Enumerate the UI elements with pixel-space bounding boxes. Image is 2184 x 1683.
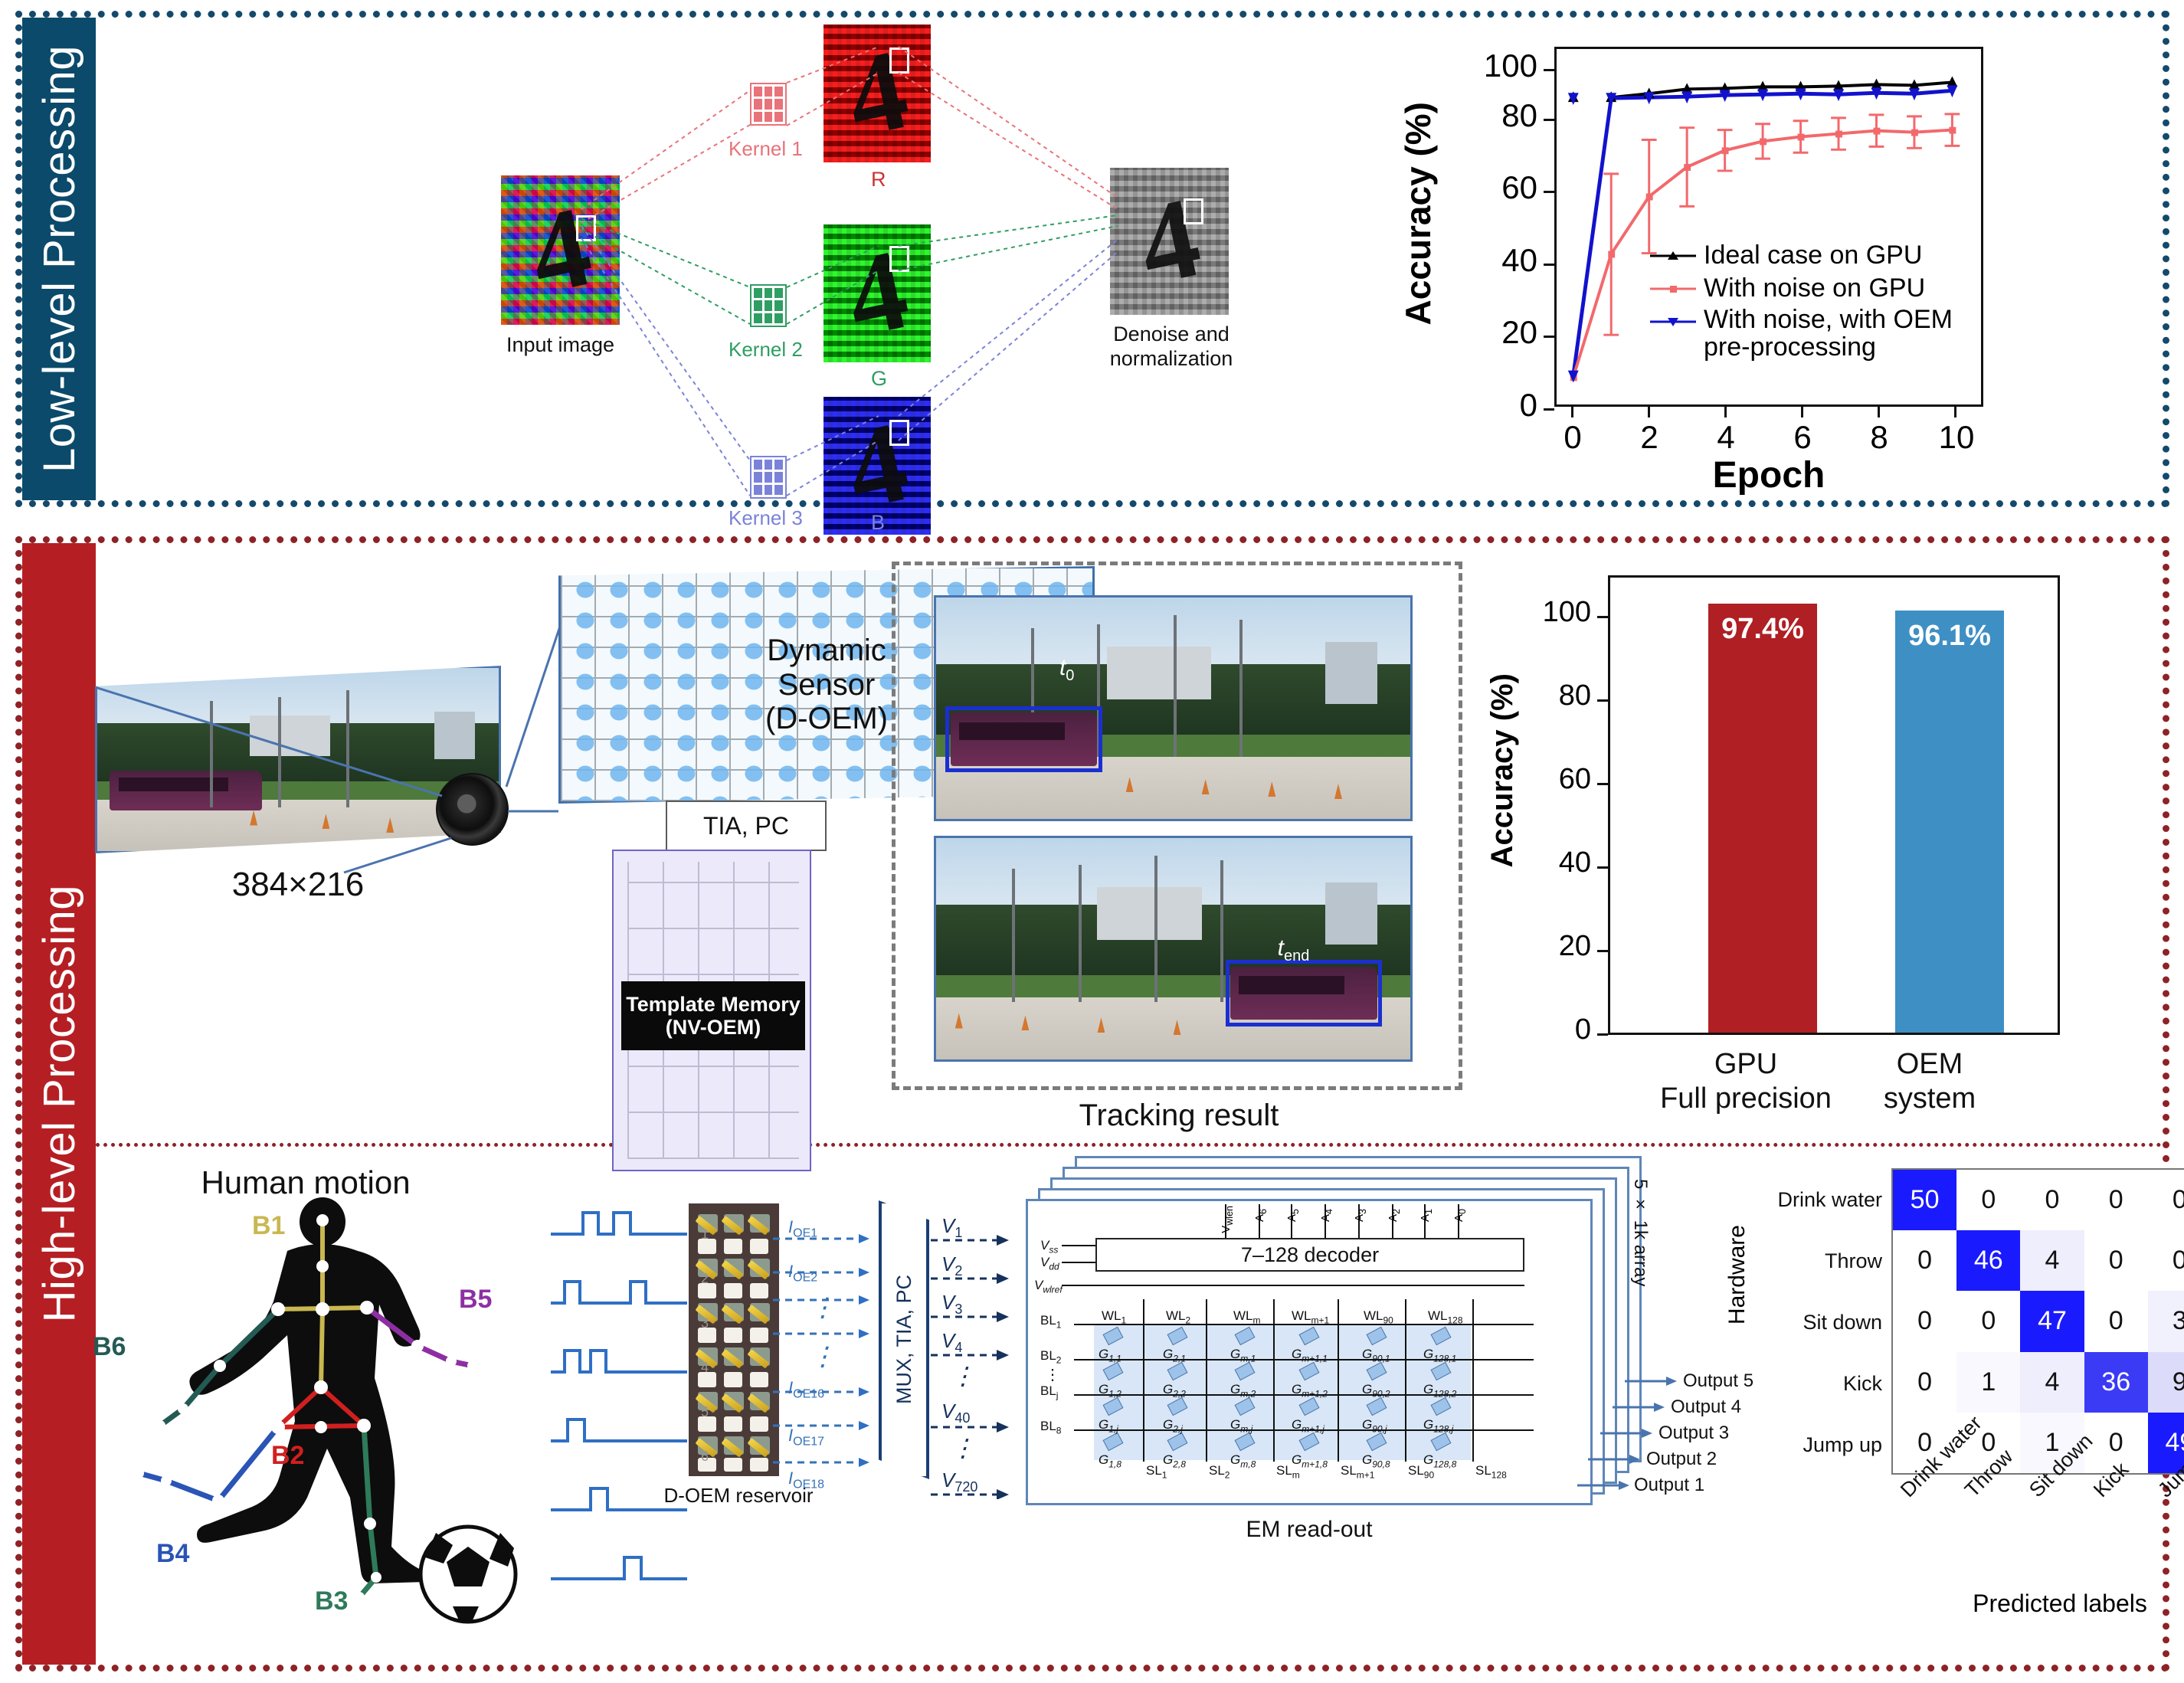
tracking-bbox-end xyxy=(1226,960,1382,1026)
legend-marker-noise-oem xyxy=(1649,314,1698,329)
sourceline-90 xyxy=(1405,1299,1406,1462)
cm-cell: 0 xyxy=(2084,1170,2148,1230)
supply-label-vss: Vss xyxy=(1040,1238,1058,1255)
cm-cell: 50 xyxy=(1893,1170,1956,1230)
conductance-label: Gm,8 xyxy=(1230,1452,1256,1469)
blue-patch-box xyxy=(889,420,909,446)
bitline-label-1: BL1 xyxy=(1040,1313,1061,1330)
bar-category-oem: OEM system xyxy=(1830,1047,2029,1116)
input-pulse-trains xyxy=(551,1202,689,1631)
conductance-label: G128,1 xyxy=(1423,1347,1456,1364)
input-patch-box xyxy=(576,215,596,241)
cm-row-label-2: Sit down xyxy=(1753,1311,1882,1334)
conductance-label: G128,8 xyxy=(1423,1452,1456,1469)
wordline-label-128: WL128 xyxy=(1428,1308,1463,1325)
denoise-caption: Denoise and normalization xyxy=(1079,323,1263,372)
conductance-label: G1,1 xyxy=(1099,1347,1121,1364)
cm-cell: 0 xyxy=(1956,1170,2020,1230)
sourceline-128 xyxy=(1472,1299,1474,1462)
crossbar-array-region xyxy=(1094,1324,1471,1460)
legend-label-noise-gpu: With noise on GPU xyxy=(1704,273,1925,303)
doem-reservoir-chip: 1 2 3 xyxy=(689,1203,779,1476)
input-image-caption: Input image xyxy=(470,333,650,358)
kernel-1-label: Kernel 1 xyxy=(729,137,803,161)
denoised-patch-box xyxy=(1184,198,1203,224)
frame-pole xyxy=(346,690,349,807)
cm-cell: 0 xyxy=(1956,1291,2020,1351)
cm-row-label-0: Drink water xyxy=(1753,1188,1882,1212)
wordline-label-m1: WLm+1 xyxy=(1292,1308,1329,1325)
input-image-tile: 4 xyxy=(501,175,620,325)
green-channel-tile: 4 xyxy=(824,224,931,362)
frame-pole xyxy=(1174,615,1177,757)
high-level-band: High-level Processing xyxy=(22,543,96,1665)
conductance-label: G90,8 xyxy=(1362,1452,1390,1469)
conductance-label: Gm+1,8 xyxy=(1292,1452,1328,1469)
frame-building xyxy=(1097,887,1201,940)
frame-pole xyxy=(1239,620,1243,757)
cm-cell: 0 xyxy=(2020,1170,2084,1230)
confusion-xlabel: Predicted labels xyxy=(1907,1590,2184,1618)
frame-building xyxy=(250,715,330,756)
green-channel-label: G xyxy=(871,367,887,391)
high-level-band-label: High-level Processing xyxy=(34,885,85,1322)
accuracy-chart-xlabel: Epoch xyxy=(1631,454,1907,496)
camera-lens-icon xyxy=(436,773,509,846)
kernel-3-icon xyxy=(750,456,787,499)
output-label-3: Output 3 xyxy=(1658,1423,1729,1444)
cm-cell: 0 xyxy=(2084,1291,2148,1351)
address-label-a6: A6 xyxy=(1253,1209,1269,1222)
bone-label-b6: B6 xyxy=(93,1332,126,1362)
accuracy-chart-plot-area: Ideal case on GPU With noise on GPU xyxy=(1554,47,1983,407)
address-label-a0: A0 xyxy=(1452,1209,1468,1222)
kernel-2-label: Kernel 2 xyxy=(729,338,803,362)
bar-gpu-value: 97.4% xyxy=(1708,613,1817,646)
sourceline-m1 xyxy=(1338,1299,1339,1462)
em-readout-card: 7–128 decoder Vwlen xyxy=(1026,1199,1593,1505)
bar-gpu: 97.4% xyxy=(1708,604,1817,1033)
cm-cell: 0 xyxy=(2148,1230,2184,1291)
human-motion-figure xyxy=(106,1187,535,1646)
frame-pole xyxy=(1220,860,1223,1002)
frame-building-right xyxy=(434,712,474,759)
cm-cell: 47 xyxy=(2020,1291,2084,1351)
cm-cell: 36 xyxy=(2084,1352,2148,1413)
denoised-digit: 4 xyxy=(1096,157,1243,326)
reservoir-ellipsis-2: ⋮ xyxy=(810,1341,836,1372)
bitline-label-2: BL2 xyxy=(1040,1348,1061,1365)
high-level-divider xyxy=(96,1143,2163,1147)
wordline-label-2: WL2 xyxy=(1166,1308,1190,1325)
tracking-time-start-label: t0 xyxy=(1059,655,1074,685)
cm-cell: 4 xyxy=(2020,1352,2084,1413)
training-accuracy-chart: Accuracy (%) xyxy=(1432,25,2121,500)
bar-oem-value: 96.1% xyxy=(1895,620,2004,653)
tracking-time-end-label: tend xyxy=(1278,935,1310,965)
conductance-label: G1,8 xyxy=(1099,1452,1121,1469)
kernel-1-icon xyxy=(750,83,787,126)
conductance-label: Gm,j xyxy=(1230,1417,1252,1434)
conductance-label: G2,1 xyxy=(1163,1347,1186,1364)
input-resolution-label: 384×216 xyxy=(152,865,444,905)
mux-output-arrows xyxy=(931,1203,1023,1499)
wordline-label-m: WLm xyxy=(1233,1308,1261,1325)
bitline-ellipsis: ⋮ xyxy=(1045,1365,1060,1384)
array-size-label: 5 × 1k array xyxy=(1629,1179,1651,1286)
cm-cell: 0 xyxy=(1893,1291,1956,1351)
conductance-label: G128,j xyxy=(1423,1417,1453,1434)
frame-pole xyxy=(1154,856,1157,1002)
address-label-a4: A4 xyxy=(1319,1209,1334,1222)
tracking-bbox-start xyxy=(945,706,1102,773)
cm-cell: 0 xyxy=(2148,1170,2184,1230)
conductance-label: G90,j xyxy=(1362,1417,1387,1434)
red-digit: 4 xyxy=(810,15,944,172)
red-patch-box xyxy=(889,47,909,74)
frame-pole xyxy=(1012,869,1015,1001)
green-digit: 4 xyxy=(810,214,944,372)
cm-cell: 9 xyxy=(2148,1352,2184,1413)
red-channel-tile: 4 xyxy=(824,25,931,162)
bone-label-b1: B1 xyxy=(252,1211,285,1241)
sourceline-label-2: SL2 xyxy=(1209,1463,1230,1480)
bone-label-b5: B5 xyxy=(459,1285,492,1315)
conductance-label: Gm+1,1 xyxy=(1292,1347,1328,1364)
sourceline-2 xyxy=(1206,1299,1207,1462)
green-patch-box xyxy=(889,246,909,272)
bar-chart-plot-area: 97.4% 96.1% xyxy=(1608,575,2060,1035)
output-label-2: Output 2 xyxy=(1646,1449,1717,1470)
tia-pc-box: TIA, PC xyxy=(666,801,827,851)
mux-label: MUX, TIA, PC xyxy=(892,1275,916,1404)
cm-cell: 3 xyxy=(2148,1291,2184,1351)
legend-label-noise-oem: With noise, with OEM pre-processing xyxy=(1704,306,1972,361)
conductance-label: G90,1 xyxy=(1362,1347,1390,1364)
em-readout-caption: EM read-out xyxy=(1171,1516,1447,1543)
high-level-panel: High-level Processing 384×216 xyxy=(15,536,2169,1672)
conductance-label: G128,2 xyxy=(1423,1382,1456,1399)
reservoir-ellipsis-1: ⋮ xyxy=(810,1292,836,1323)
bar-oem: 96.1% xyxy=(1895,611,2004,1033)
bitline-label-j: BLj xyxy=(1040,1383,1058,1400)
low-level-band-label: Low-level Processing xyxy=(34,45,85,473)
tracking-accuracy-chart: Accuracy (%) 97.4% 96.1% 0 20 40 60 xyxy=(1524,558,2129,1125)
output-label-5: Output 5 xyxy=(1683,1370,1753,1392)
cm-cell: 0 xyxy=(1893,1230,1956,1291)
template-memory-label: Template Memory (NV-OEM) xyxy=(621,981,805,1050)
kernel-3-label: Kernel 3 xyxy=(729,506,803,530)
bone-label-b4: B4 xyxy=(156,1539,189,1569)
bone-label-b3: B3 xyxy=(315,1586,348,1616)
sourceline-1 xyxy=(1143,1299,1144,1462)
supply-label-vwlref: Vwlref xyxy=(1034,1278,1063,1295)
cm-cell: 4 xyxy=(2020,1230,2084,1291)
confusion-matrix-chart: Hardware 50 0 0 0 0 0 46 4 0 0 0 0 47 0 … xyxy=(1753,1148,2182,1654)
address-label-a1: A1 xyxy=(1419,1209,1434,1222)
wordline-label-1: WL1 xyxy=(1102,1308,1126,1325)
conductance-label: Gm,2 xyxy=(1230,1382,1256,1399)
cm-cell: 0 xyxy=(2084,1230,2148,1291)
sourceline-label-128: SL128 xyxy=(1475,1463,1507,1480)
frame-pole xyxy=(210,701,213,807)
address-label-vwlen: Vwlen xyxy=(1220,1206,1235,1233)
tracking-frame-end: tend xyxy=(934,836,1413,1062)
cm-cell: 0 xyxy=(1893,1352,1956,1413)
address-label-a5: A5 xyxy=(1285,1209,1301,1222)
mux-tia-pc-block: MUX, TIA, PC xyxy=(879,1200,929,1479)
conductance-label: G2,j xyxy=(1163,1417,1183,1434)
cm-row-label-3: Kick xyxy=(1753,1372,1882,1396)
conductance-label: G90,2 xyxy=(1362,1382,1390,1399)
bitline-label-8: BL8 xyxy=(1040,1419,1061,1436)
bar-category-gpu: GPU Full precision xyxy=(1631,1047,1861,1116)
cm-row-label-4: Jump up xyxy=(1753,1433,1882,1457)
frame-building-right xyxy=(1325,642,1377,704)
cm-row-label-1: Throw xyxy=(1753,1249,1882,1273)
template-memory-panel: Template Memory (NV-OEM) xyxy=(612,850,811,1171)
conductance-label: G1,2 xyxy=(1099,1382,1121,1399)
low-level-panel: Low-level Processing 4 Input image 4 R K… xyxy=(15,11,2169,507)
cm-cell: 1 xyxy=(1956,1352,2020,1413)
blue-channel-label: B xyxy=(871,511,885,535)
conductance-label: G2,8 xyxy=(1163,1452,1186,1469)
conductance-label: Gm+1,j xyxy=(1292,1417,1324,1434)
address-label-a2: A2 xyxy=(1387,1209,1402,1222)
frame-bus xyxy=(110,771,262,811)
sourceline-m xyxy=(1273,1299,1275,1462)
figure-root: Low-level Processing 4 Input image 4 R K… xyxy=(0,0,2184,1683)
conductance-label: Gm,1 xyxy=(1230,1347,1256,1364)
bone-label-b2: B2 xyxy=(271,1441,304,1471)
frame-pole xyxy=(1079,865,1082,1002)
frame-building-right xyxy=(1325,882,1377,945)
conductance-label: G2,2 xyxy=(1163,1382,1186,1399)
conductance-label: Gm+1,2 xyxy=(1292,1382,1328,1399)
accuracy-chart-legend: Ideal case on GPU With noise on GPU xyxy=(1649,241,1978,361)
tracking-result-caption: Tracking result xyxy=(1003,1098,1355,1134)
supply-label-vdd: Vdd xyxy=(1040,1255,1059,1272)
low-level-band: Low-level Processing xyxy=(22,18,96,500)
red-channel-label: R xyxy=(871,168,886,192)
legend-label-ideal: Ideal case on GPU xyxy=(1704,241,1922,270)
conductance-label: G1,j xyxy=(1099,1417,1118,1434)
output-label-1: Output 1 xyxy=(1634,1475,1704,1496)
legend-marker-noise-gpu xyxy=(1649,281,1698,296)
frame-pole xyxy=(278,697,281,807)
frame-building xyxy=(1107,647,1211,699)
confusion-matrix-grid: 50 0 0 0 0 0 46 4 0 0 0 0 47 0 3 0 1 4 3… xyxy=(1891,1168,2184,1475)
denoised-image-tile: 4 xyxy=(1110,168,1229,315)
input-digit: 4 xyxy=(486,165,634,336)
tracking-frame-start: t0 xyxy=(934,595,1413,821)
cm-cell: 46 xyxy=(1956,1230,2020,1291)
wordline-label-90: WL90 xyxy=(1364,1308,1393,1325)
output-label-4: Output 4 xyxy=(1671,1396,1741,1418)
address-label-a3: A3 xyxy=(1353,1209,1368,1222)
legend-marker-ideal xyxy=(1649,248,1698,264)
kernel-2-icon xyxy=(750,284,787,327)
